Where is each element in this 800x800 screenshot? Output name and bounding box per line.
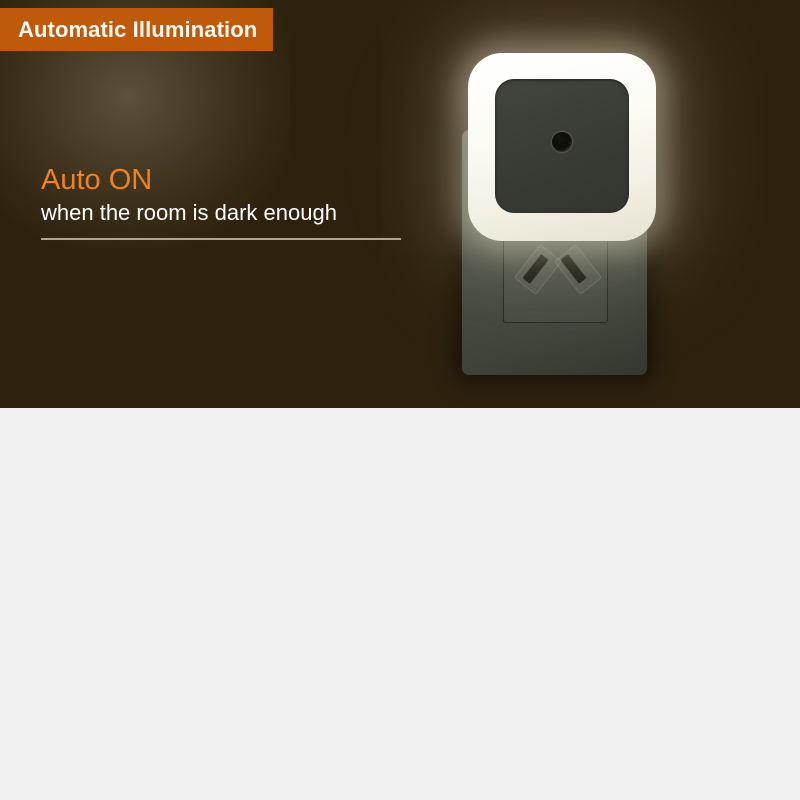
subline-auto-on: when the room is dark enough [41, 199, 401, 227]
light-sensor-icon [552, 132, 572, 152]
divider-rule-top [41, 238, 401, 240]
panel-auto-off: Auto OFF when the ambient light increase… [0, 408, 800, 800]
product-photo-auto-on [430, 35, 710, 375]
header-banner: Automatic Illumination [0, 8, 273, 51]
night-light-face-dark [495, 79, 628, 212]
text-block-auto-on: Auto ON when the room is dark enough [41, 164, 401, 240]
product-feature-infographic: Automatic Illumination Auto ON when the … [0, 0, 800, 800]
night-light-illuminated [468, 53, 656, 241]
panel-auto-on: Automatic Illumination Auto ON when the … [0, 0, 800, 408]
banner-title: Automatic Illumination [18, 19, 257, 41]
headline-auto-on: Auto ON [41, 164, 401, 197]
